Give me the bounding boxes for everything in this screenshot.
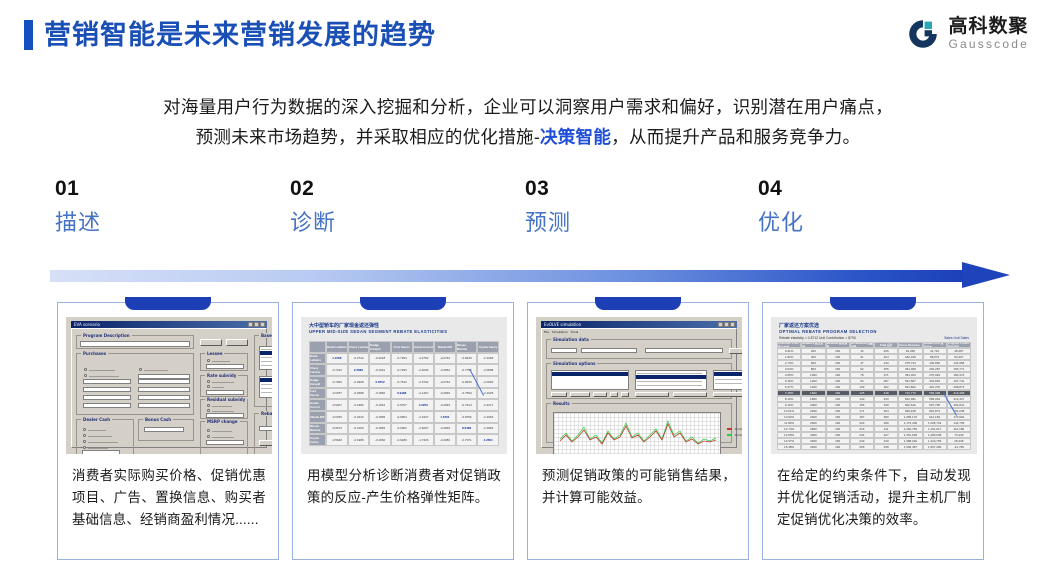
matrix-cell: -0.7310 — [326, 364, 348, 376]
matrix-cell: -0.2233 — [348, 411, 370, 423]
matrix-col-header: Dodge Intrepid — [369, 341, 391, 353]
optimization-table: Customer Price 客户价格Rebate $ 返还金额Baseline… — [777, 342, 971, 450]
matrix-cell: -0.2928 — [348, 376, 370, 388]
matrix-col-header: Toyota Camry — [477, 341, 499, 353]
intro-highlight: 决策智能 — [540, 127, 611, 147]
matrix-cell: -0.6766 — [326, 411, 348, 423]
opt-subtitle: Rebate elasticity = 0.8712 Unit Contribu… — [779, 336, 856, 340]
opt-cell: 15.48% — [777, 444, 801, 450]
opt-cell: 265 — [850, 444, 874, 450]
opt-corner-note: Sales Unit Sales — [944, 336, 969, 340]
matrix-cell: -0.2669 — [434, 388, 456, 400]
card-predict-screenshot: EvOLVE simulation File Simulation Tools … — [536, 317, 742, 454]
opt-title-cn: 厂家返还方案优选 — [779, 322, 819, 329]
card-predict[interactable]: EvOLVE simulation File Simulation Tools … — [527, 302, 749, 560]
matrix-cell: -0.8756 — [456, 411, 478, 423]
matrix-cell: 4.2252 — [413, 399, 435, 411]
matrix-cell: -2.1497 — [413, 388, 435, 400]
w95-title-text-1: EVA scenario — [74, 322, 100, 327]
matrix-row-header: Mazda 626 — [309, 411, 326, 423]
menu-simulation[interactable]: Simulation — [552, 330, 568, 334]
matrix-cell: -0.1091 — [369, 364, 391, 376]
card-describe-caption: 消费者实际购买价格、促销优惠项目、广告、置换信息、购买者基础信息、经销商盈利情况… — [72, 465, 266, 531]
matrix-cell: -0.5648 — [326, 434, 348, 446]
matrix-cell: -2.3702 — [413, 376, 435, 388]
matrix-cell: -0.7500 — [456, 388, 478, 400]
card-optimize-screenshot: 厂家返还方案优选 OPTIMAL REBATE PROGRAM SELECTIO… — [771, 317, 977, 454]
matrix-cell: 1.6791 — [434, 411, 456, 423]
card-row: EVA scenario Program Description — [0, 296, 1051, 564]
card-predict-caption: 预测促销政策的可能销售结果，并计算可能效益。 — [542, 465, 736, 509]
legend-est: Dodge Caravan est. — [735, 427, 742, 431]
matrix-cell: -2.2752 — [413, 353, 435, 365]
opt-cell: -21,789 — [947, 444, 971, 450]
matrix-cell: -0.6787 — [326, 388, 348, 400]
matrix-cell: -0.2588 — [348, 388, 370, 400]
card-optimize[interactable]: 厂家返还方案优选 OPTIMAL REBATE PROGRAM SELECTIO… — [762, 302, 984, 560]
step-04-number: 04 — [758, 176, 958, 202]
matrix-cell: -2.1882 — [477, 423, 499, 435]
matrix-cell: -0.7293 — [391, 364, 413, 376]
title-accent-bar — [24, 20, 33, 50]
matrix-cell: -0.8340 — [456, 353, 478, 365]
card-optimize-caption: 在给定的约束条件下，自动发现并优化促销活动，提升主机厂制定促销优化决策的效率。 — [777, 465, 971, 531]
matrix-cell: -0.2093 — [434, 399, 456, 411]
matrix-cell: -0.2835 — [434, 423, 456, 435]
matrix-cell: -0.7371 — [456, 434, 478, 446]
matrix-cell: -0.1642 — [369, 399, 391, 411]
step-01: 01 描述 — [55, 176, 255, 240]
brand-logo: 高科数聚 Gausscode — [906, 16, 1029, 51]
brand-name-cn: 高科数聚 — [948, 16, 1029, 37]
card-describe-tab — [125, 297, 211, 310]
menu-file[interactable]: File — [544, 330, 549, 334]
matrix-cell: 8.6488 — [456, 423, 478, 435]
matrix-cell: -0.2652 — [434, 364, 456, 376]
card-diagnose-caption: 用模型分析诊断消费者对促销政策的反应-产生价格弹性矩阵。 — [307, 465, 501, 509]
matrix-row-header: Buick LeSabre — [309, 353, 326, 365]
brand-name-en: Gausscode — [948, 37, 1029, 51]
brand-logo-text: 高科数聚 Gausscode — [948, 16, 1029, 51]
matrix-cell: -0.6189 — [391, 434, 413, 446]
matrix-col-header: Honda Accord — [413, 341, 435, 353]
matrix-row-header: Nissan Maxima — [309, 423, 326, 435]
matrix-cell: -0.7206 — [326, 376, 348, 388]
intro-paragraph: 对海量用户行为数据的深入挖掘和分析，企业可以洞察用户需求和偏好，识别潜在用户痛点… — [52, 92, 1004, 152]
matrix-col-header: Mazda 626 — [434, 341, 456, 353]
matrix-row-header: Toyota Camry — [309, 434, 326, 446]
step-03: 03 预测 — [525, 176, 725, 240]
matrix-cell: -0.1986 — [348, 399, 370, 411]
page-title-text: 营销智能是未来营销发展的趋势 — [44, 20, 436, 50]
matrix-col-header: Chevy Lumina — [348, 341, 370, 353]
card-predict-tab — [595, 297, 681, 310]
card-describe-screenshot: EVA scenario Program Description — [66, 317, 272, 454]
matrix-cell: -0.6362 — [391, 423, 413, 435]
process-arrow — [50, 262, 1010, 288]
matrix-title-cn: 大中型轿车的厂家现金返还弹性 — [309, 322, 379, 329]
matrix-row-header: Ford Taurus — [309, 388, 326, 400]
matrix-row-header: Honda Accord — [309, 399, 326, 411]
slide-header: 营销智能是未来营销发展的趋势 高科数聚 Gausscode — [0, 0, 1051, 72]
matrix-cell: 1.1568 — [326, 353, 348, 365]
matrix-row-header: Dodge Intrepid — [309, 376, 326, 388]
matrix-cell: -0.2794 — [434, 376, 456, 388]
matrix-cell: -0.2742 — [348, 353, 370, 365]
opt-cell: 1,536,487 — [898, 444, 922, 450]
matrix-corner — [309, 341, 326, 353]
matrix-cell: -0.7756 — [456, 364, 478, 376]
intro-line-1: 对海量用户行为数据的深入挖掘和分析，企业可以洞察用户需求和偏好，识别潜在用户痛点… — [163, 97, 893, 117]
matrix-cell: 0.9488 — [391, 388, 413, 400]
card-describe[interactable]: EVA scenario Program Description — [57, 302, 279, 560]
matrix-cell: -0.7510 — [391, 376, 413, 388]
matrix-cell: -0.1860 — [369, 388, 391, 400]
step-03-label: 预测 — [525, 206, 725, 240]
matrix-title-en: UPPER MID-SIZE SEDAN SEGMENT REBATE ELAS… — [309, 329, 447, 334]
step-04-label: 优化 — [758, 206, 958, 240]
intro-line-2-post: ，从而提升产品和服务竞争力。 — [611, 127, 860, 147]
matrix-cell: -0.1660 — [369, 434, 391, 446]
slide: 营销智能是未来营销发展的趋势 高科数聚 Gausscode 对海量用户行为数据的… — [0, 0, 1051, 586]
w95-title-text-3: EvOLVE simulation — [544, 322, 581, 327]
matrix-cell: -0.6954 — [391, 411, 413, 423]
gausscode-logo-icon — [906, 17, 940, 51]
elasticity-matrix: Buick LeSabreChevy LuminaDodge IntrepidF… — [309, 341, 499, 446]
card-diagnose-screenshot: 大中型轿车的厂家现金返还弹性 UPPER MID-SIZE SEDAN SEGM… — [301, 317, 507, 454]
opt-title-en: OPTIMAL REBATE PROGRAM SELECTION — [779, 329, 877, 334]
step-01-number: 01 — [55, 176, 255, 202]
matrix-cell: -2.0808 — [477, 364, 499, 376]
legend-actual: Dodge Caravan actual — [735, 433, 742, 437]
opt-cell: 190 — [826, 444, 850, 450]
matrix-cell: -2.1663 — [477, 411, 499, 423]
matrix-cell: -2.5207 — [413, 423, 435, 435]
step-02-number: 02 — [290, 176, 490, 202]
card-diagnose-tab — [360, 297, 446, 310]
opt-cell: 1,567,280 — [923, 444, 947, 450]
step-02-label: 诊断 — [290, 206, 490, 240]
matrix-cell: 0.8752 — [369, 376, 391, 388]
matrix-cell: -0.2169 — [348, 423, 370, 435]
matrix-cell: -2.0602 — [477, 376, 499, 388]
matrix-cell: -0.1895 — [369, 411, 391, 423]
matrix-cell: -0.1869 — [369, 423, 391, 435]
matrix-col-header: Buick LeSabre — [326, 341, 348, 353]
prediction-line-chart — [554, 413, 722, 454]
matrix-cell: -0.2380 — [434, 434, 456, 446]
matrix-cell: 4.2561 — [477, 434, 499, 446]
matrix-cell: -1.7436 — [413, 434, 435, 446]
matrix-cell: -2.1096 — [477, 353, 499, 365]
step-02: 02 诊断 — [290, 176, 490, 240]
matrix-cell: -0.5407 — [326, 399, 348, 411]
matrix-cell: -2.2337 — [413, 411, 435, 423]
step-04: 04 优化 — [758, 176, 958, 240]
matrix-cell: -0.5767 — [391, 399, 413, 411]
card-diagnose[interactable]: 大中型轿车的厂家现金返还弹性 UPPER MID-SIZE SEDAN SEGM… — [292, 302, 514, 560]
step-01-label: 描述 — [55, 206, 255, 240]
matrix-row-header: Chevy Lumina — [309, 364, 326, 376]
matrix-cell: -2.2271 — [477, 399, 499, 411]
matrix-cell: -0.1988 — [348, 434, 370, 446]
step-03-number: 03 — [525, 176, 725, 202]
matrix-col-header: Ford Taurus — [391, 341, 413, 353]
card-optimize-tab — [830, 297, 916, 310]
page-title: 营销智能是未来营销发展的趋势 — [24, 20, 436, 50]
matrix-col-header: Nissan Maxima — [456, 341, 478, 353]
intro-line-2-pre: 预测未来市场趋势，并采取相应的优化措施- — [196, 127, 540, 147]
matrix-cell: -0.7254 — [391, 353, 413, 365]
opt-cell: 458 — [874, 444, 898, 450]
opt-cell: 3400 — [801, 444, 825, 450]
matrix-cell: -2.2606 — [413, 364, 435, 376]
matrix-cell: -0.2794 — [434, 353, 456, 365]
menu-tools[interactable]: Tools — [571, 330, 578, 334]
step-labels: 01 描述 02 诊断 03 预测 04 优化 — [0, 176, 1051, 246]
process-arrow-shaft — [50, 270, 970, 282]
matrix-cell: 2.2683 — [348, 364, 370, 376]
matrix-cell: -0.6673 — [326, 423, 348, 435]
matrix-cell: -0.7314 — [456, 399, 478, 411]
matrix-cell: -0.2018 — [369, 353, 391, 365]
process-arrow-head — [962, 262, 1010, 288]
